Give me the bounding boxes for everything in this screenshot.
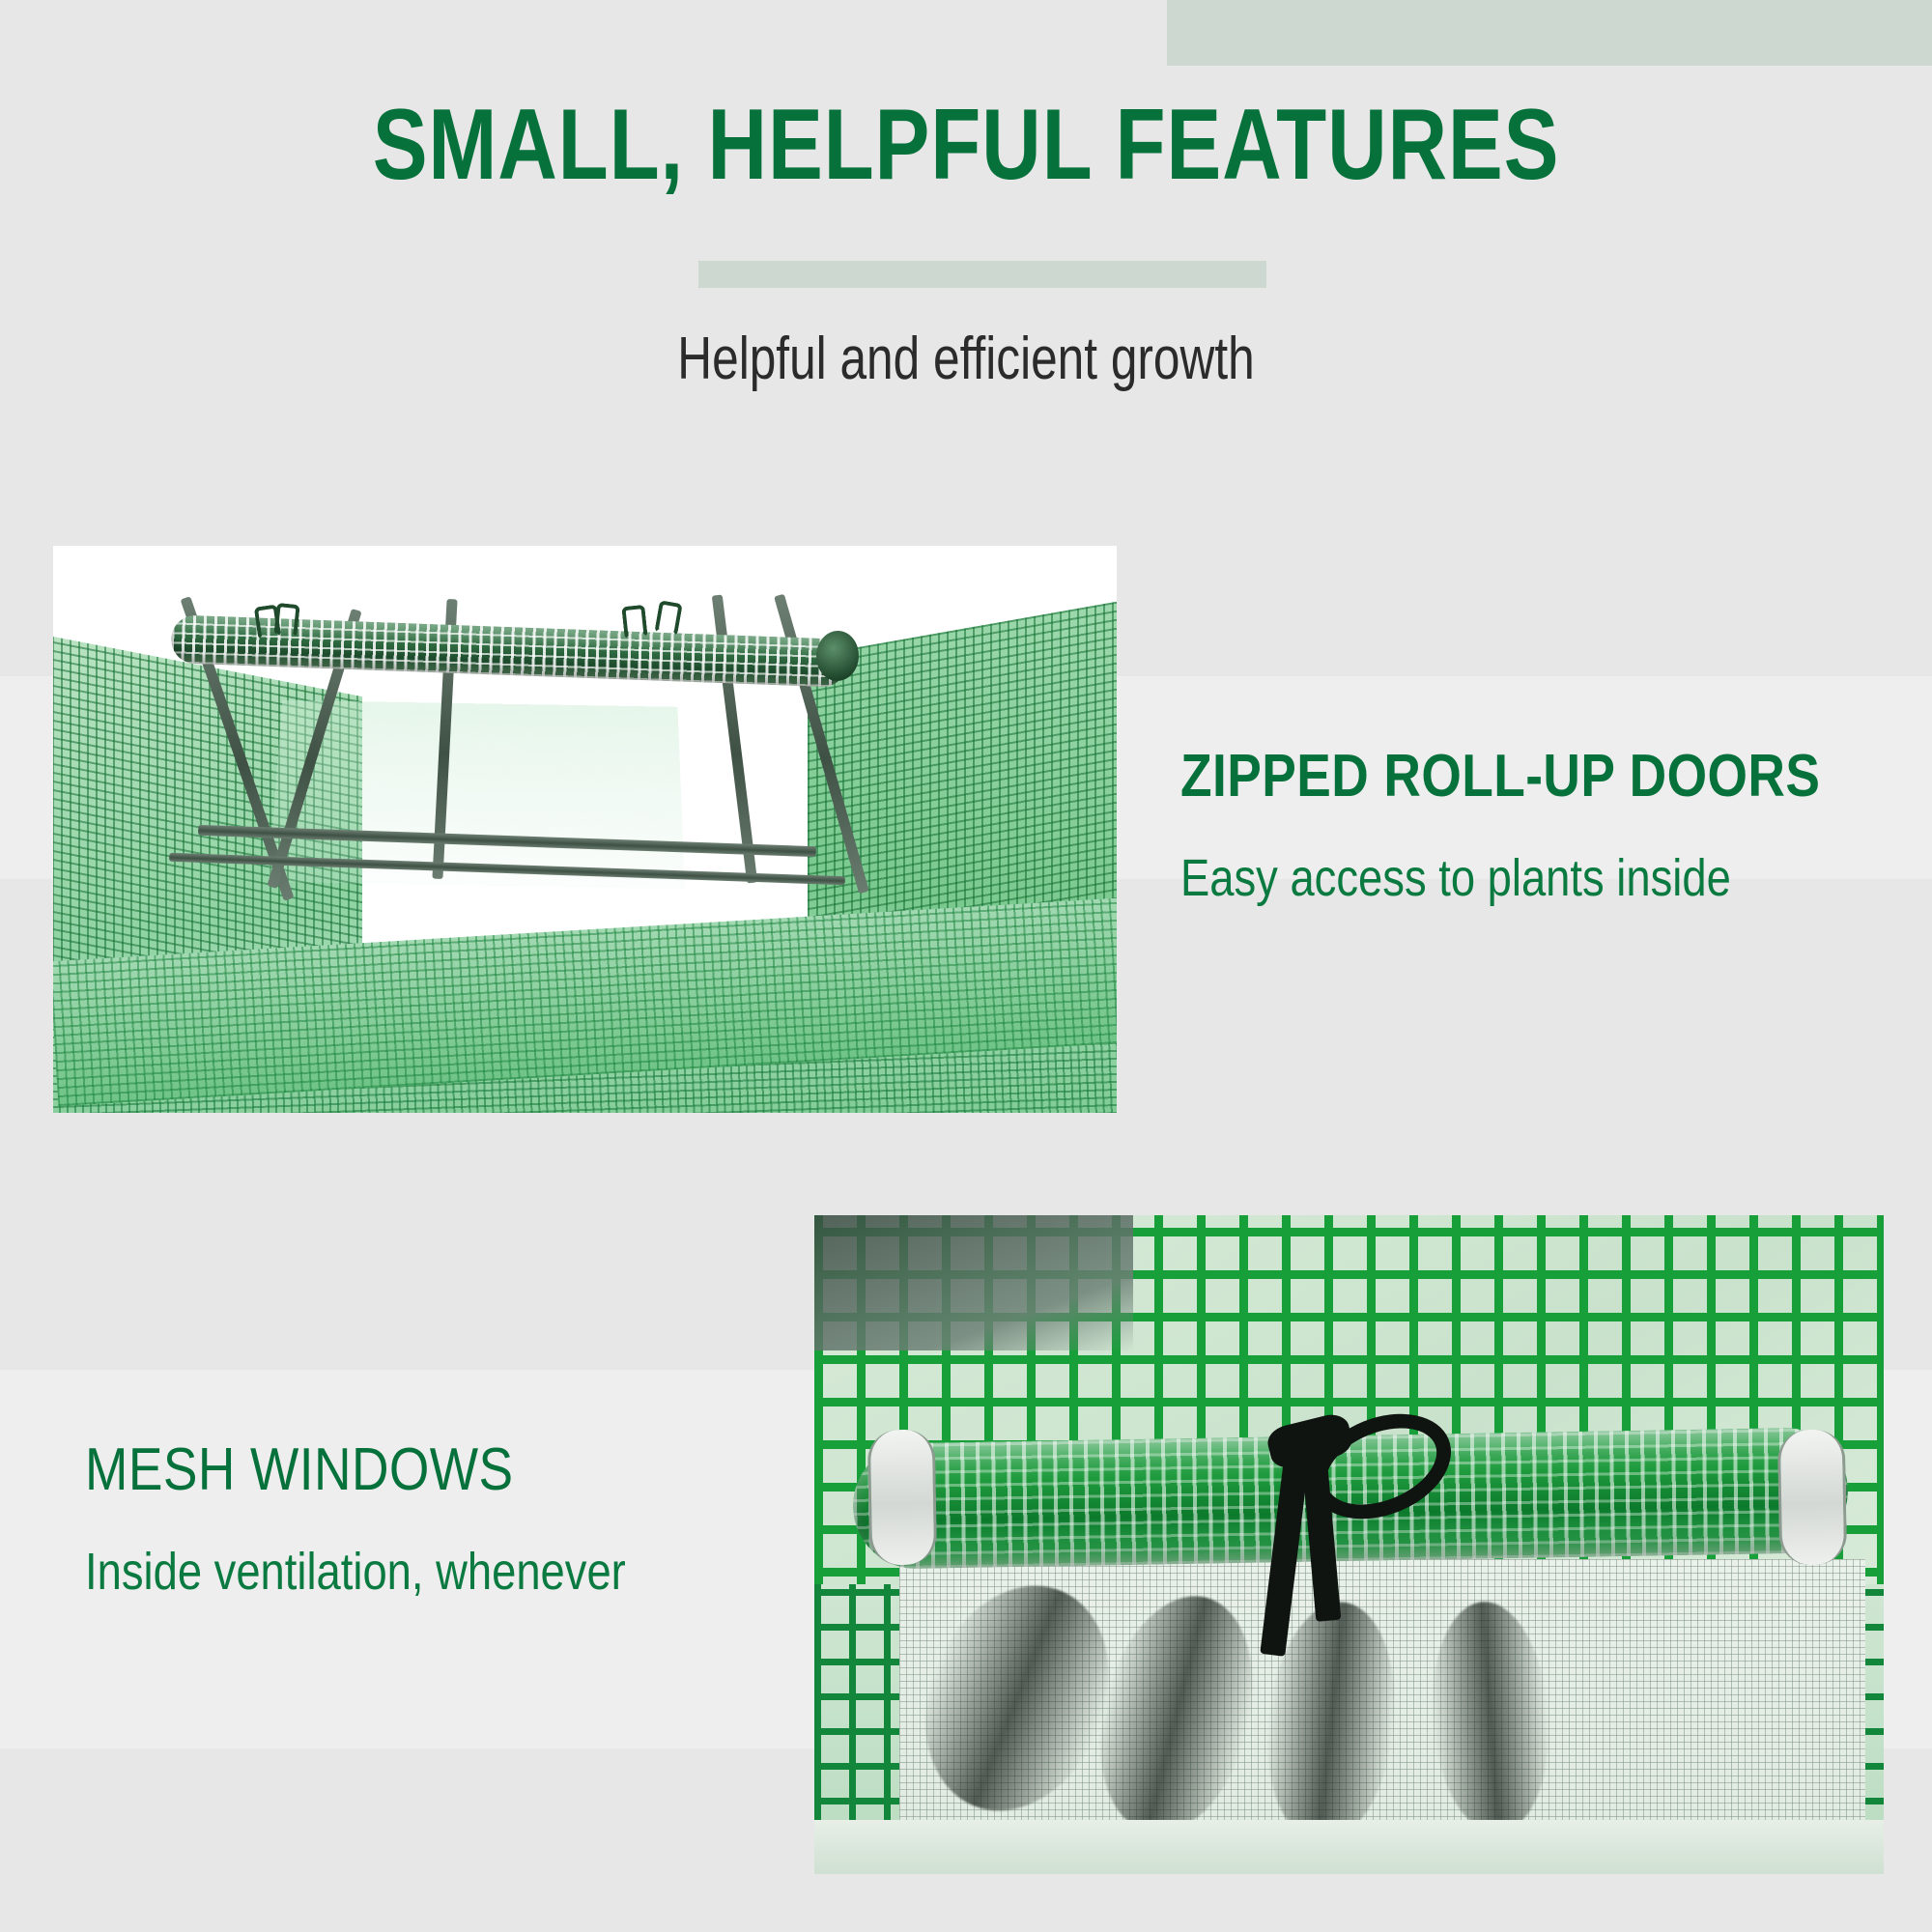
title-divider-rule xyxy=(698,261,1266,288)
photo-zipped-roll-up-doors xyxy=(53,546,1117,1113)
callout-zipped-roll-up-doors: ZIPPED ROLL-UP DOORS Easy access to plan… xyxy=(1180,744,1895,908)
callout-heading: ZIPPED ROLL-UP DOORS xyxy=(1180,744,1795,810)
mesh-shadow-corner xyxy=(814,1215,1133,1350)
mesh-bottom-edge xyxy=(814,1820,1884,1874)
callout-heading: MESH WINDOWS xyxy=(85,1437,667,1503)
callout-subtext: Easy access to plants inside xyxy=(1180,848,1781,908)
page-title: SMALL, HELPFUL FEATURES xyxy=(174,93,1758,198)
callout-mesh-windows: MESH WINDOWS Inside ventilation, wheneve… xyxy=(85,1437,761,1602)
page-subtitle: Helpful and efficient growth xyxy=(193,325,1739,393)
velcro-strap xyxy=(1777,1429,1847,1565)
door-clip-icon xyxy=(273,603,299,638)
photo-mesh-windows xyxy=(814,1215,1884,1874)
infographic-canvas: SMALL, HELPFUL FEATURES Helpful and effi… xyxy=(0,0,1932,1932)
top-right-accent-block xyxy=(1167,0,1932,66)
callout-subtext: Inside ventilation, whenever xyxy=(85,1542,653,1602)
door-clip-icon xyxy=(621,605,647,639)
velcro-strap xyxy=(867,1429,937,1565)
